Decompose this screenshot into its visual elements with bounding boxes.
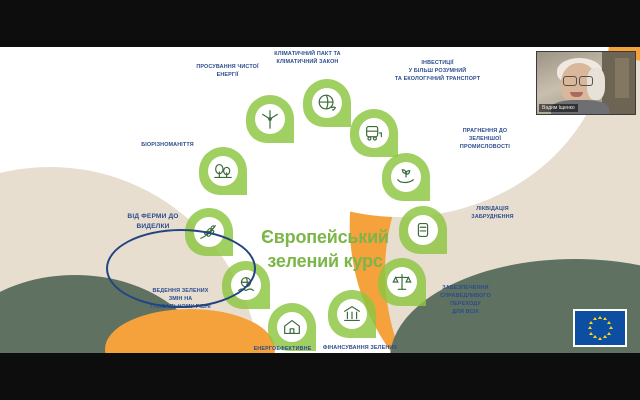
screen-share-view: Європейський зелений курс ПРОСУВАННЯ ЧИС… [0,0,640,400]
webcam-door [615,58,629,98]
pin-greener-industry[interactable] [382,153,430,201]
label-smart-green-transport: ІНВЕСТИЦІЇ У БІЛЬШ РОЗУМНИЙ ТА ЕКОЛОГІЧН… [370,59,505,83]
eu-flag-star [603,335,607,338]
hand-plant-icon [391,162,421,192]
slide-title-line-1: Європейський [250,225,400,249]
eu-flag-star [588,326,592,329]
eu-flag-star [603,317,607,320]
water-drop-icon [408,215,438,245]
highlight-ellipse-farm-to-fork [106,229,256,308]
eu-flag-star [609,326,613,329]
participant-name-label: Вадим Іщенко [539,104,578,113]
wind-turbine-icon [255,104,285,134]
eu-flag-star [589,321,593,324]
eu-flag-star [598,337,602,340]
trees-icon [208,156,238,186]
house-icon [277,312,307,342]
label-climate-pact-law: КЛІМАТИЧНИЙ ПАКТ ТА КЛІМАТИЧНИЙ ЗАКОН [235,50,380,66]
eu-flag-star [589,332,593,335]
pin-climate-pact-law[interactable] [303,79,351,127]
eu-flag-star [593,317,597,320]
participant-glasses [563,76,593,84]
label-greener-industry: ПРАГНЕННЯ ДО ЗЕЛЕНІШОЇ ПРОМИСЛОВОСТІ [430,127,540,151]
eu-flag-star [598,316,602,319]
bank-coin-icon [337,299,367,329]
label-just-transition: ЗАБЕЗПЕЧЕННЯ СПРАВЕДЛИВОГО ПЕРЕХОДУ ДЛЯ … [413,284,518,316]
label-farm-to-fork: ВІД ФЕРМИ ДО ВИДЕЛКИ [113,212,193,232]
label-biodiversity: БІОРІЗНОМАНІТТЯ [105,141,230,149]
pin-smart-green-transport[interactable] [350,109,398,157]
transport-icon [359,118,389,148]
pin-energy-efficient-building[interactable] [268,303,316,351]
eu-flag-star [607,332,611,335]
label-pollution-elimination: ЛІКВІДАЦІЯ ЗАБРУДНЕННЯ [440,205,545,221]
pin-green-finance[interactable] [328,290,376,338]
label-energy-efficient-building: ЕНЕРГОЕФЕКТИВНЕ БУДІВНИЦТВО [225,345,340,353]
eu-flag [573,309,627,347]
pin-clean-energy[interactable] [246,95,294,143]
globe-leaf-icon [312,88,342,118]
eu-flag-star [607,321,611,324]
webcam-tile[interactable]: Вадим Іщенко [536,51,636,115]
eu-flag-star [593,335,597,338]
pin-biodiversity[interactable] [199,147,247,195]
